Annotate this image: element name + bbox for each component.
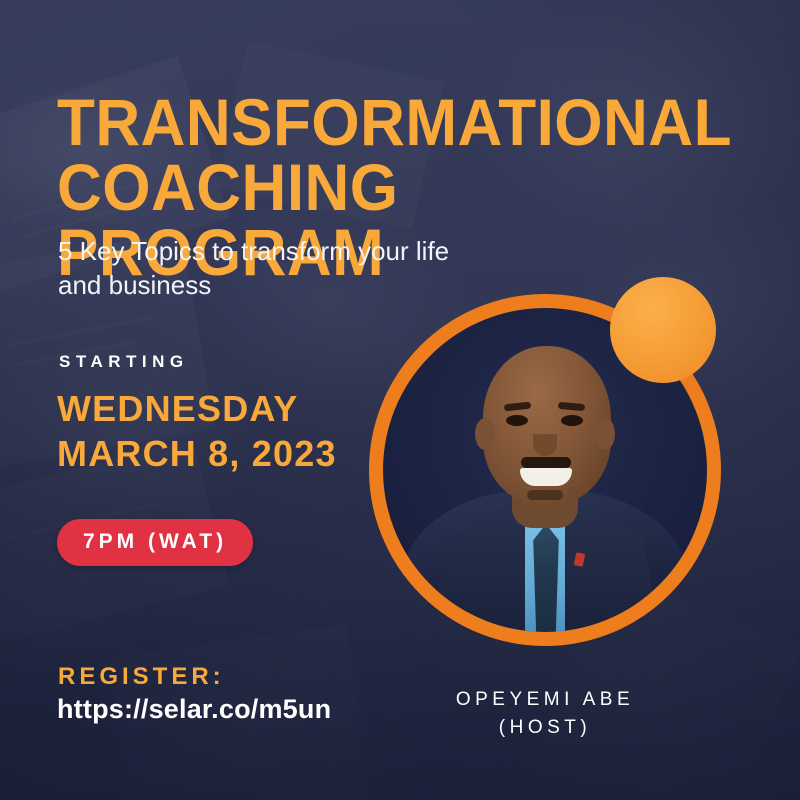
orange-dot-decoration [610,277,716,383]
event-flyer: TRANSFORMATIONAL COACHING PROGRAM 5 Key … [0,0,800,800]
event-date: WEDNESDAY MARCH 8, 2023 [57,386,337,476]
register-label: REGISTER: [58,663,225,691]
host-role: (HOST) [369,714,721,742]
register-link[interactable]: https://selar.co/m5un [57,694,331,725]
host-caption: OPEYEMI ABE (HOST) [369,686,721,741]
starting-label: STARTING [59,352,189,372]
subtitle: 5 Key Topics to transform your life and … [58,234,578,303]
host-name: OPEYEMI ABE [456,689,634,710]
event-time-badge: 7PM (WAT) [57,519,253,566]
subtitle-line-2: and business [58,270,211,300]
event-day: WEDNESDAY [57,388,299,429]
subtitle-line-1: 5 Key Topics to transform your life [58,236,449,266]
event-date-full: MARCH 8, 2023 [57,431,337,476]
headline-line-1: TRANSFORMATIONAL [57,85,732,159]
